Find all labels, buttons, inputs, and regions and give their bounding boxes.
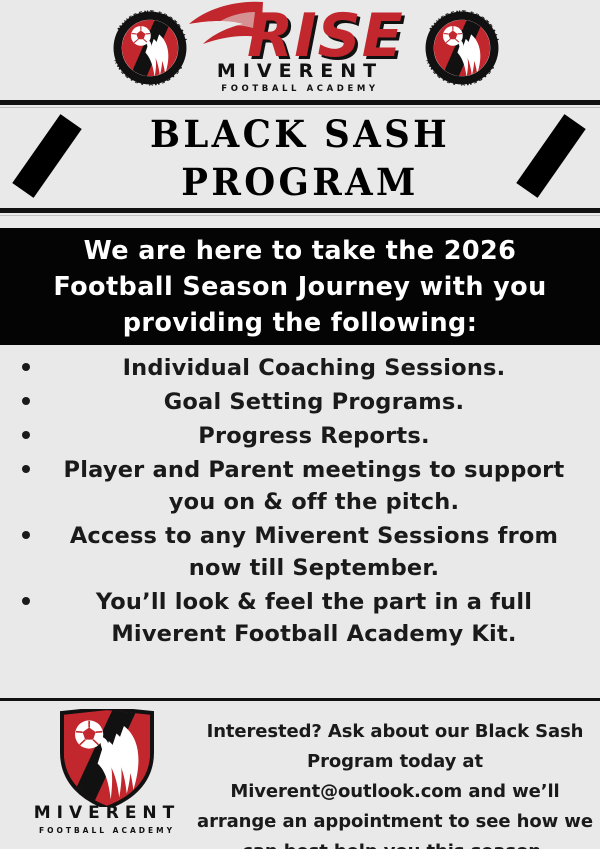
page-title: BLACK SASH PROGRAM [98,110,501,206]
divider-title-thick [0,208,600,213]
intro-text: We are here to take the 2026 Football Se… [22,233,578,341]
list-item-label: Goal Setting Programs. [0,386,600,418]
bullet-dot-icon [22,531,30,539]
poster-root: MIVERENT FOOTBALL ACADEMY ACADEMY [0,0,600,849]
divider-footer [0,698,600,701]
footer-logo: MIVERENT FOOTBALL ACADEMY [22,709,192,841]
bullet-dot-icon [22,597,30,605]
sash-stripe-left-icon [12,114,81,198]
list-item-label: Progress Reports. [0,420,600,452]
list-item: Access to any Miverent Sessions from now… [0,520,600,584]
list-item: Progress Reports. [0,420,600,452]
footer-brand-tagline: FOOTBALL ACADEMY [22,827,192,835]
list-item-label: Individual Coaching Sessions. [0,352,600,384]
bullet-dot-icon [22,431,30,439]
footer-contact-text: Interested? Ask about our Black Sash Pro… [196,717,594,849]
footer: MIVERENT FOOTBALL ACADEMY Interested? As… [0,703,600,849]
header-band: MIVERENT FOOTBALL ACADEMY ACADEMY [0,0,600,104]
bullet-dot-icon [22,465,30,473]
page-title-line-1: BLACK SASH [98,110,501,158]
title-band: BLACK SASH PROGRAM [0,108,600,208]
miverent-shield-icon [60,709,154,807]
sash-stripe-right-icon [516,114,585,198]
list-item: You’ll look & feel the part in a full Mi… [0,586,600,650]
benefits-list: Individual Coaching Sessions. Goal Setti… [0,352,600,692]
list-item: Individual Coaching Sessions. [0,352,600,384]
header-brand-tagline: FOOTBALL ACADEMY [0,85,600,94]
divider-title-thin [0,215,600,216]
list-item-label: Access to any Miverent Sessions from now… [0,520,600,584]
divider-header-thick [0,100,600,105]
footer-brand-name: MIVERENT [22,805,192,822]
header-brand-name: MIVERENT [0,62,600,81]
header-logo-group: MIVERENT FOOTBALL ACADEMY ACADEMY [0,0,600,104]
list-item: Player and Parent meetings to support yo… [0,454,600,518]
bullet-dot-icon [22,397,30,405]
bullet-dot-icon [22,363,30,371]
intro-banner: We are here to take the 2026 Football Se… [0,228,600,345]
list-item: Goal Setting Programs. [0,386,600,418]
list-item-label: Player and Parent meetings to support yo… [0,454,600,518]
list-item-label: You’ll look & feel the part in a full Mi… [0,586,600,650]
page-title-line-2: PROGRAM [98,158,501,206]
